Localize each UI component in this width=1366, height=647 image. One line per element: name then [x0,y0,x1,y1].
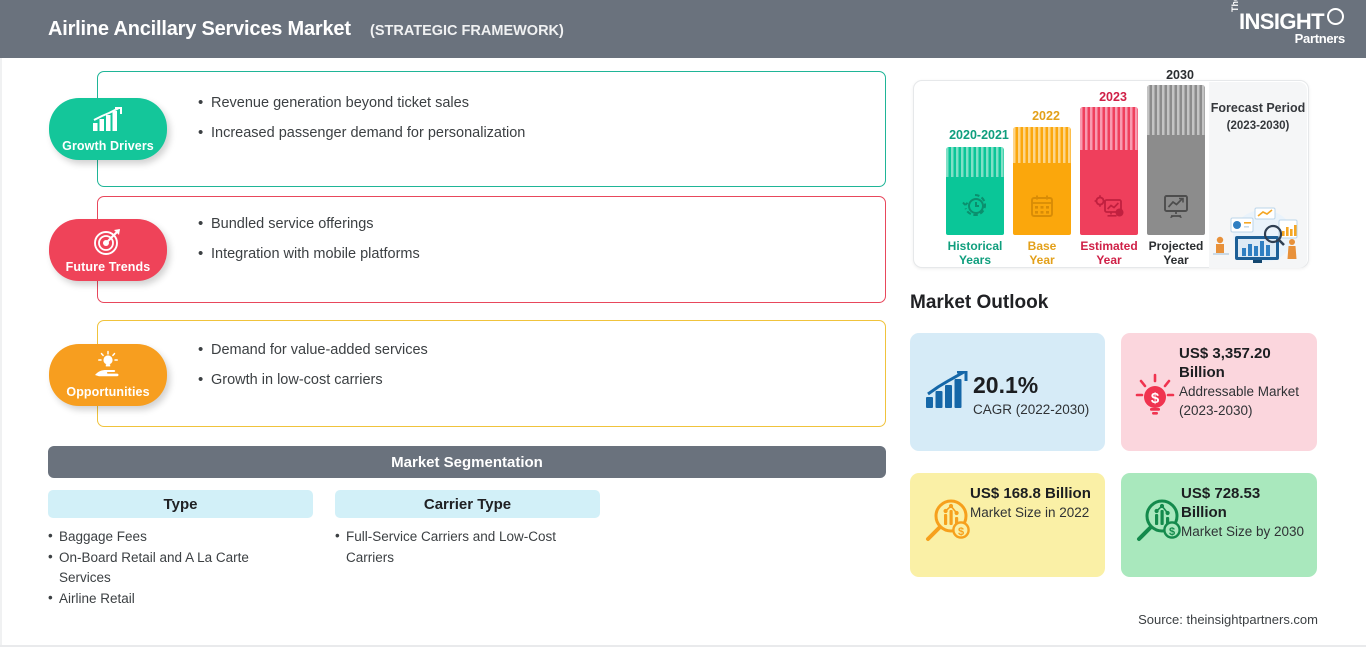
stat-text: US$ 3,357.20 Billion Addressable Market … [1179,344,1309,420]
bar-caption-line1: Base [1028,239,1057,253]
growth-bar-chart-icon [924,371,970,416]
stat-text: US$ 168.8 Billion Market Size in 2022 [970,484,1098,522]
lightbulb-dollar-icon: $ [1135,373,1175,420]
badge-growth-drivers[interactable]: Growth Drivers [49,98,167,160]
segment-list-type: Baggage Fees On-Board Retail and A La Ca… [48,527,298,609]
list-item: Integration with mobile platforms [198,245,420,265]
target-arrow-icon [49,228,167,261]
stat-card-market-size-2030[interactable]: $ US$ 728.53 Billion Market Size by 2030 [1121,473,1317,577]
presentation-chart-icon [1147,194,1205,223]
forecast-title: Forecast Period [1211,101,1305,115]
bar-chart-growth-icon [49,107,167,138]
future-trends-box: Bundled service offerings Integration wi… [97,196,886,303]
list-item: Demand for value-added services [198,341,428,361]
stat-value: US$ 3,357.20 Billion [1179,344,1309,382]
list-item: Growth in low-cost carriers [198,371,428,391]
list-item: On-Board Retail and A La Carte Services [48,548,298,589]
segment-list-carrier-type: Full-Service Carriers and Low-Cost Carri… [335,527,580,568]
segment-pill-carrier-type[interactable]: Carrier Type [335,490,600,518]
stat-card-addressable-market[interactable]: $ US$ 3,357.20 Billion Addressable Marke… [1121,333,1317,451]
bar [1147,85,1205,235]
stat-value: 20.1% [973,371,1098,400]
bar-caption-line1: Projected [1149,239,1204,253]
forecast-period-chart: Forecast Period (2023-2030) [913,80,1309,268]
badge-label: Opportunities [49,385,167,399]
bar-caption-line2: Years [959,253,991,267]
stat-value: US$ 168.8 Billion [970,484,1098,503]
left-edge-rule [0,58,2,647]
magnifier-chart-dollar-icon: $ [1135,497,1183,550]
svg-text:$: $ [1169,526,1175,538]
segment-pill-label: Carrier Type [424,496,511,513]
stat-label: Addressable Market (2023-2030) [1179,383,1309,419]
list-item: Revenue generation beyond ticket sales [198,94,525,114]
svg-text:$: $ [1151,390,1160,407]
growth-drivers-box: Revenue generation beyond ticket sales I… [97,71,886,187]
list-item: Full-Service Carriers and Low-Cost Carri… [335,527,580,568]
segment-pill-label: Type [164,496,198,513]
growth-drivers-bullets: Revenue generation beyond ticket sales I… [198,94,525,153]
stat-label: Market Size in 2022 [970,504,1098,522]
list-item: Bundled service offerings [198,215,420,235]
future-trends-bullets: Bundled service offerings Integration wi… [198,215,420,274]
forecast-period-label: Forecast Period (2023-2030) [1209,100,1307,134]
clock-history-icon [946,192,1004,223]
bar [1080,107,1138,235]
calendar-icon [1013,194,1071,223]
list-item: Baggage Fees [48,527,298,548]
badge-label: Future Trends [49,260,167,274]
hand-lightbulb-icon [49,350,167,385]
list-item: Increased passenger demand for personali… [198,124,525,144]
list-item: Airline Retail [48,589,298,610]
insight-partners-logo: The INSIGHT Partners [1228,8,1348,50]
bar-stripe-segment [1147,85,1205,135]
bar-caption-line2: Year [1096,253,1121,267]
logo-partners-text: Partners [1295,31,1345,46]
bar [946,147,1004,235]
stat-text: 20.1% CAGR (2022-2030) [973,371,1098,420]
infographic-page: Airline Ancillary Services Market (STRAT… [0,0,1366,647]
forecast-range: (2023-2030) [1227,120,1290,132]
stat-value: US$ 728.53 Billion [1181,484,1309,522]
bar-caption-line2: Year [1163,253,1188,267]
opportunities-bullets: Demand for value-added services Growth i… [198,341,428,400]
opportunities-box: Demand for value-added services Growth i… [97,320,886,427]
bar-stripe-segment [1013,127,1071,163]
bar-year-label: 2030 [1125,68,1235,82]
svg-text:$: $ [958,526,964,538]
badge-opportunities[interactable]: Opportunities [49,344,167,406]
bar-caption: Projected Year [1126,239,1226,268]
page-header: Airline Ancillary Services Market (STRAT… [0,0,1366,58]
stat-label: Market Size by 2030 [1181,523,1309,541]
page-title: Airline Ancillary Services Market [48,18,351,41]
market-segmentation-header: Market Segmentation [48,446,886,478]
badge-label: Growth Drivers [49,139,167,153]
market-outlook-title: Market Outlook [910,292,1048,314]
segment-pill-type[interactable]: Type [48,490,313,518]
logo-circle-icon [1327,8,1344,25]
stat-card-market-size-2022[interactable]: $ US$ 168.8 Billion Market Size in 2022 [910,473,1105,577]
bar-stripe-segment [1080,107,1138,150]
forecast-gear-chart-icon [1080,194,1138,223]
source-attribution: Source: theinsightpartners.com [1138,612,1318,627]
bar-stripe-segment [946,147,1004,177]
stat-text: US$ 728.53 Billion Market Size by 2030 [1181,484,1309,542]
magnifier-chart-dollar-icon: $ [924,497,972,550]
bar [1013,127,1071,235]
bar-caption-line2: Year [1029,253,1054,267]
badge-future-trends[interactable]: Future Trends [49,219,167,281]
stat-label: CAGR (2022-2030) [973,401,1098,419]
stat-card-cagr[interactable]: 20.1% CAGR (2022-2030) [910,333,1105,451]
page-subtitle: (STRATEGIC FRAMEWORK) [370,23,564,39]
